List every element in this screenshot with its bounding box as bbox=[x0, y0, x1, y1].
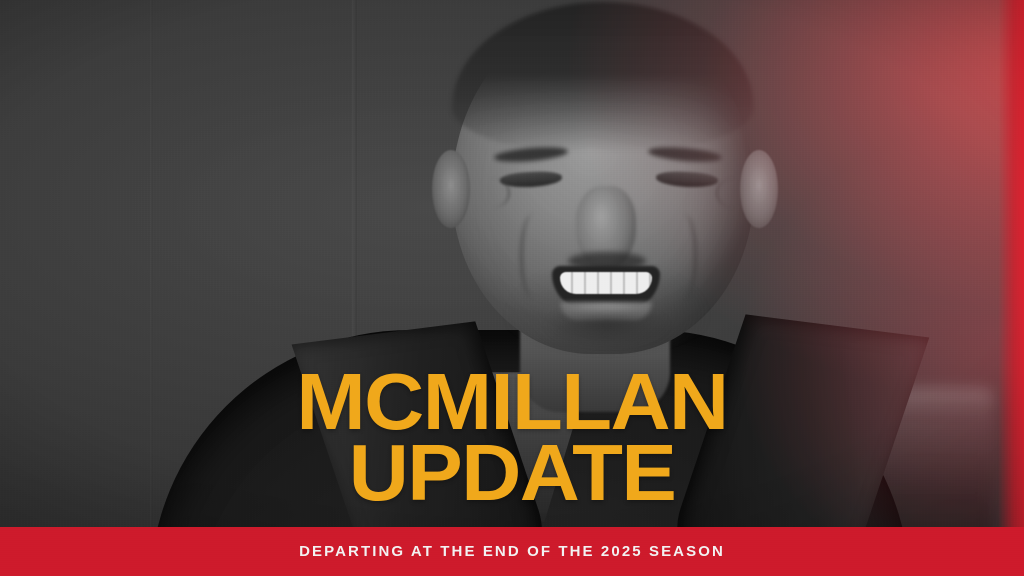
bottom-banner: DEPARTING AT THE END OF THE 2025 SEASON bbox=[0, 527, 1024, 576]
crows-feet-right bbox=[716, 178, 752, 208]
smile-line-left bbox=[520, 214, 545, 298]
chin-shadow bbox=[534, 312, 680, 356]
smile-line-right bbox=[672, 214, 697, 298]
background-photo bbox=[0, 0, 1024, 576]
subject-portrait bbox=[0, 0, 1024, 576]
banner-text: DEPARTING AT THE END OF THE 2025 SEASON bbox=[299, 543, 725, 560]
hair bbox=[452, 2, 754, 152]
crows-feet-left bbox=[474, 178, 510, 208]
announcement-graphic: MCMILLAN UPDATE DEPARTING AT THE END OF … bbox=[0, 0, 1024, 576]
ear-left bbox=[432, 150, 470, 228]
teeth bbox=[560, 272, 652, 294]
